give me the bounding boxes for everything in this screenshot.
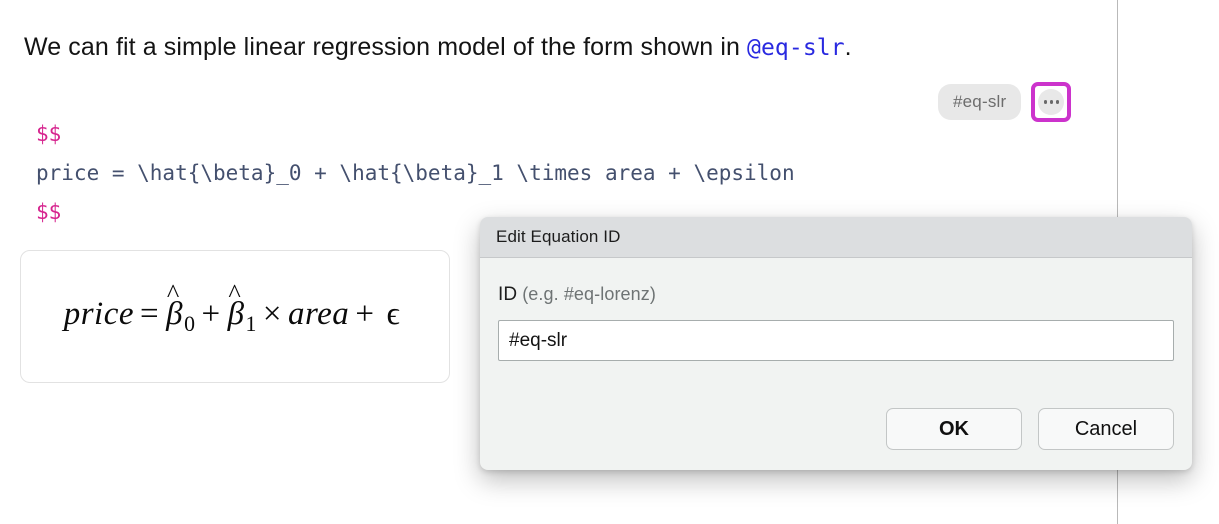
math-area: area <box>288 296 349 332</box>
cancel-button[interactable]: Cancel <box>1038 408 1174 450</box>
math-epsilon: ϵ <box>386 296 400 332</box>
math-beta1-subscript: 1 <box>246 312 257 336</box>
dialog-title: Edit Equation ID <box>496 227 620 247</box>
code-line-latex: price = \hat{\beta}_0 + \hat{\beta}_1 \t… <box>36 154 795 193</box>
equation-id-input[interactable] <box>498 320 1174 361</box>
math-plus-2: + <box>355 296 374 332</box>
latex-code-block[interactable]: $$price = \hat{\beta}_0 + \hat{\beta}_1 … <box>36 115 795 232</box>
paragraph-text-prefix: We can fit a simple linear regression mo… <box>24 33 747 61</box>
dialog-button-row: OK Cancel <box>886 408 1174 450</box>
math-preview-box[interactable]: price=^β0+^β1×area+ϵ <box>20 250 450 383</box>
math-times: × <box>263 296 282 332</box>
edit-equation-dialog: Edit Equation ID ID(e.g. #eq-lorenz) OK … <box>480 217 1192 470</box>
equation-toolbar: #eq-slr <box>938 82 1071 122</box>
dialog-body: ID(e.g. #eq-lorenz) <box>480 258 1192 361</box>
math-open-delimiter: $$ <box>36 122 61 146</box>
math-beta0-hat: ^β <box>165 296 183 333</box>
math-plus-1: + <box>201 296 220 332</box>
ok-button[interactable]: OK <box>886 408 1022 450</box>
ellipsis-icon <box>1038 89 1064 115</box>
math-beta0-subscript: 0 <box>184 312 195 336</box>
equation-id-badge[interactable]: #eq-slr <box>938 84 1021 120</box>
id-field-label: ID(e.g. #eq-lorenz) <box>498 284 1174 306</box>
id-label-text: ID <box>498 284 517 305</box>
paragraph-text-suffix: . <box>845 33 852 61</box>
rendered-equation: price=^β0+^β1×area+ϵ <box>64 296 407 337</box>
math-equals: = <box>140 296 159 332</box>
latex-source-line: price = \hat{\beta}_0 + \hat{\beta}_1 \t… <box>36 161 795 185</box>
hat-accent-icon: ^ <box>228 280 241 306</box>
dialog-titlebar: Edit Equation ID <box>480 217 1192 258</box>
code-line-open-delimiter: $$ <box>36 115 795 154</box>
math-lhs: price <box>64 296 134 332</box>
hat-accent-icon: ^ <box>167 280 180 306</box>
prose-paragraph[interactable]: We can fit a simple linear regression mo… <box>24 30 1084 65</box>
math-close-delimiter: $$ <box>36 200 61 224</box>
equation-menu-button[interactable] <box>1031 82 1071 122</box>
editor-canvas: We can fit a simple linear regression mo… <box>0 0 1219 524</box>
cross-reference-link[interactable]: @eq-slr <box>747 35 845 61</box>
math-beta1-hat: ^β <box>227 296 245 333</box>
id-label-hint: (e.g. #eq-lorenz) <box>522 284 656 304</box>
